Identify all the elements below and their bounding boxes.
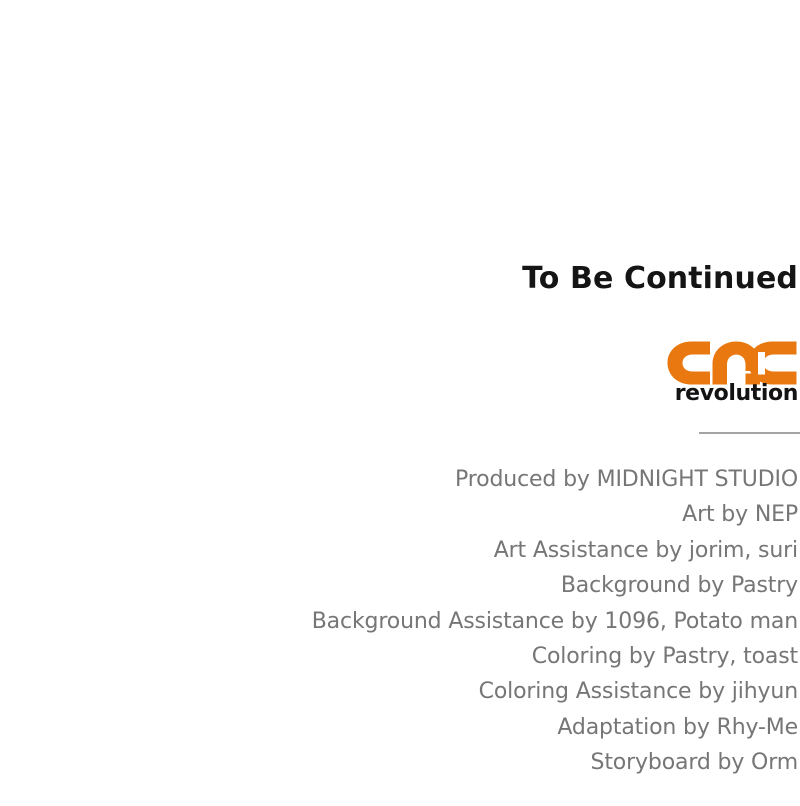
credit-line: Adaptation by Rhy-Me [312, 710, 798, 745]
credit-line: Coloring by Pastry, toast [312, 639, 798, 674]
credit-line: Art by NEP [312, 497, 798, 532]
credit-line: Background by Pastry [312, 568, 798, 603]
credits-list: Produced by MIDNIGHT STUDIO Art by NEP A… [312, 462, 798, 781]
credit-line: Produced by MIDNIGHT STUDIO [312, 462, 798, 497]
credit-line: Storyboard by Orm [312, 745, 798, 780]
credit-line: Art Assistance by jorim, suri [312, 533, 798, 568]
logo-wordmark-text: revolution [675, 383, 798, 405]
cnc-revolution-logo: revolution [666, 340, 798, 412]
credit-line: Coloring Assistance by jihyun [312, 674, 798, 709]
to-be-continued-title: To Be Continued [522, 264, 798, 294]
comic-end-card-page: To Be Continued revolution Produced by [0, 0, 800, 806]
credits-divider [699, 432, 800, 434]
credit-line: Background Assistance by 1096, Potato ma… [312, 604, 798, 639]
cnc-logo-mark-icon [666, 340, 798, 386]
